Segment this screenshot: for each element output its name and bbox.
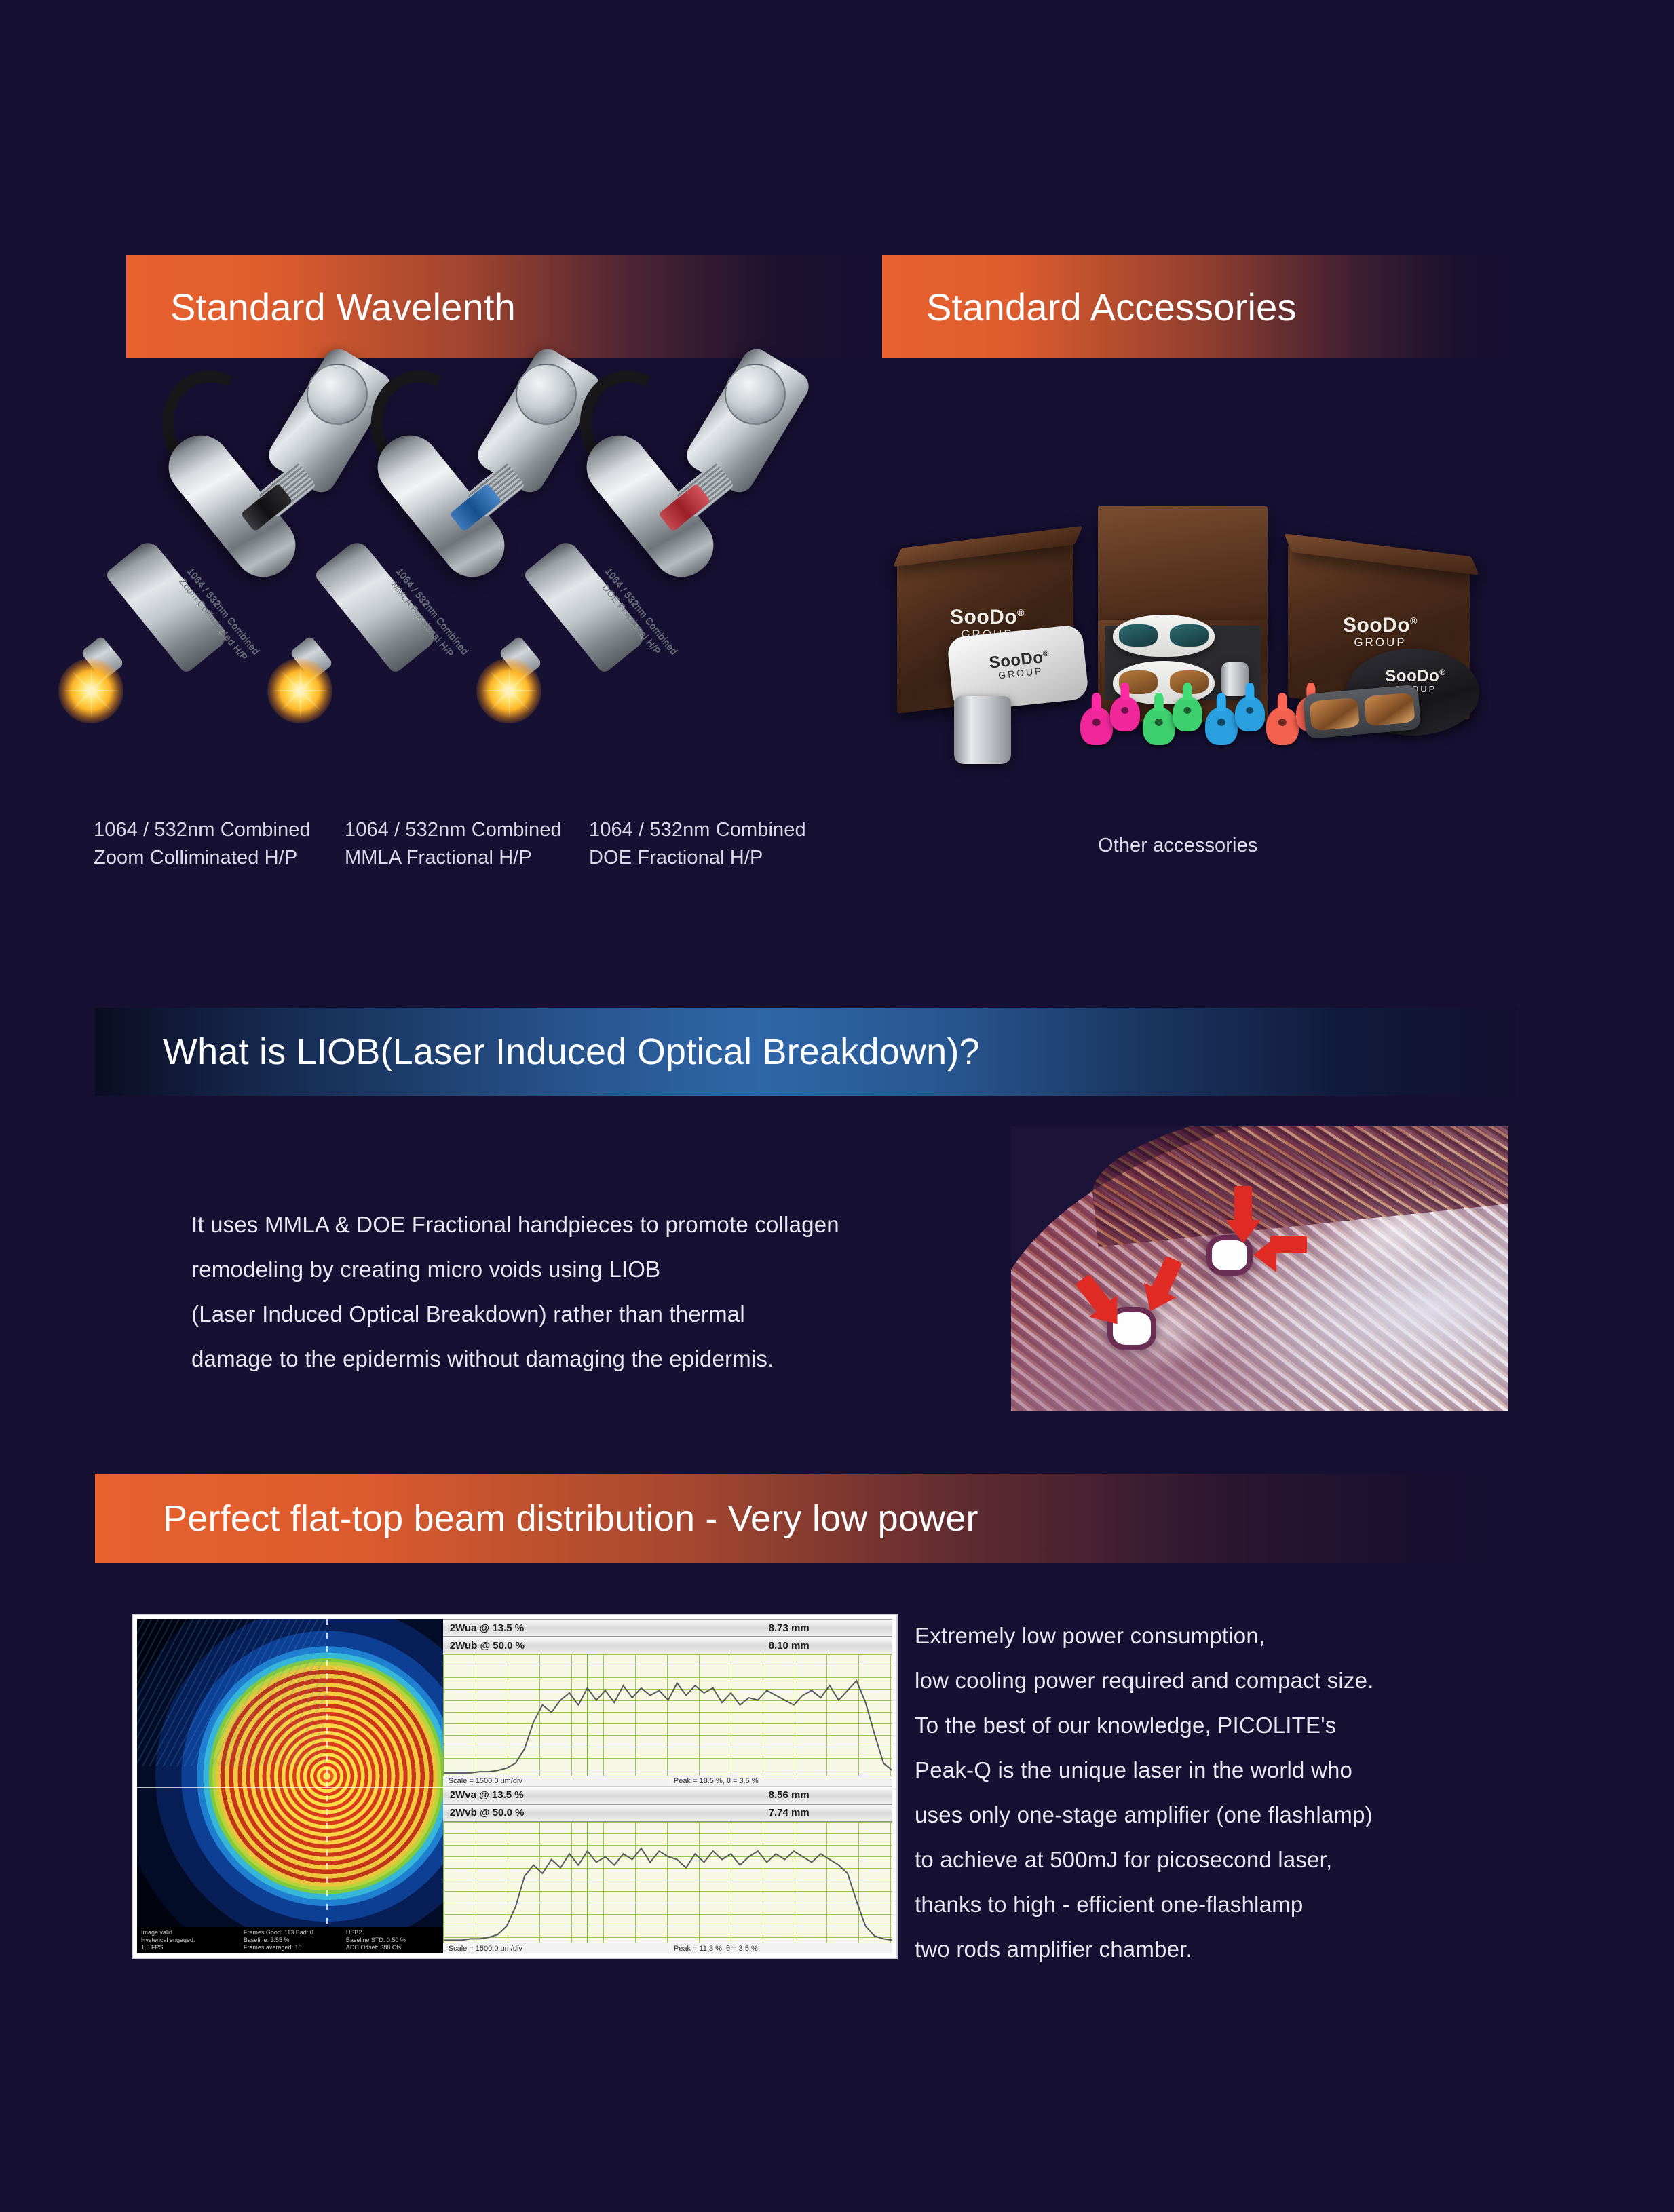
status-image-valid: Image valid — [141, 1929, 234, 1937]
banner-liob: What is LIOB(Laser Induced Optical Break… — [95, 1008, 1517, 1096]
laser-spark-icon — [58, 658, 123, 723]
status-hysterical: Hysterical engaged. — [141, 1937, 234, 1944]
vertical-profile-plot — [443, 1822, 892, 1943]
brand-mark: SooDo® GROUP — [1314, 615, 1447, 648]
eye-shield-green — [1143, 707, 1175, 745]
readout-label: 2Wub @ 50.0 % — [443, 1637, 686, 1654]
status-baseline-std: Baseline STD: 0.50 % — [346, 1937, 439, 1944]
handpiece-cap — [725, 364, 786, 425]
accessories-caption: Other accessories — [1098, 832, 1257, 860]
banner-flattop: Perfect flat-top beam distribution - Ver… — [95, 1474, 1517, 1563]
meta-scale: Scale = 1500.0 um/div — [443, 1776, 668, 1786]
eye-shield-blue-2 — [1235, 696, 1265, 731]
banner-flattop-label: Perfect flat-top beam distribution - Ver… — [163, 1498, 978, 1540]
banner-liob-label: What is LIOB(Laser Induced Optical Break… — [163, 1031, 980, 1073]
readout-value: 8.73 mm — [685, 1620, 892, 1636]
accessories-photo: SooDo® GROUP SooDo® GROUP SooDo® GROUP S… — [882, 493, 1493, 778]
accessory-cylinder-small — [1221, 662, 1249, 696]
meta-scale: Scale = 1500.0 um/div — [443, 1943, 668, 1953]
eye-shield-red — [1266, 707, 1299, 745]
status-baseline: Baseline: 3.55 % — [244, 1937, 337, 1944]
eye-shield-blue — [1205, 707, 1238, 745]
status-fps: 1.5 FPS — [141, 1944, 234, 1951]
meta-row-middle: Scale = 1500.0 um/div Peak = 18.5 %, θ =… — [443, 1776, 892, 1787]
eye-shield-green-2 — [1173, 696, 1202, 731]
readout-value: 8.10 mm — [685, 1637, 892, 1654]
meta-row-bottom: Scale = 1500.0 um/div Peak = 11.3 %, θ =… — [443, 1943, 892, 1953]
crosshair-horizontal — [137, 1787, 443, 1788]
flattop-paragraph: Extremely low power consumption, low coo… — [915, 1614, 1525, 1972]
handpiece-caption-3: 1064 / 532nm Combined DOE Fractional H/P — [589, 816, 847, 872]
eye-shield-pink — [1080, 707, 1113, 745]
beam-profiler-screenshot: Image valid Hysterical engaged. 1.5 FPS … — [133, 1615, 896, 1958]
banner-standard-wavelength: Standard Wavelenth — [126, 255, 877, 358]
readout-value: 7.74 mm — [685, 1805, 892, 1821]
accessory-cylinder-large — [954, 696, 1011, 764]
banner-standard-accessories-label: Standard Accessories — [926, 285, 1297, 329]
meta-peak: Peak = 18.5 %, θ = 3.5 % — [668, 1776, 892, 1786]
laser-spark-icon — [476, 658, 541, 723]
vertical-profile-trace — [444, 1822, 892, 1943]
readout-row: 2Wvb @ 50.0 % 7.74 mm — [443, 1804, 892, 1822]
banner-standard-accessories: Standard Accessories — [882, 255, 1517, 358]
handpiece-cap — [307, 364, 368, 425]
safety-goggle-upper — [1113, 615, 1215, 657]
annotation-arrow-left — [1247, 1227, 1307, 1262]
beam-streak-artifacts — [137, 1619, 326, 1766]
handpiece-caption-2: 1064 / 532nm Combined MMLA Fractional H/… — [345, 816, 589, 872]
horizontal-profile-trace — [444, 1654, 892, 1776]
status-usb: USB2 — [346, 1929, 439, 1937]
readout-row: 2Wua @ 13.5 % 8.73 mm — [443, 1619, 892, 1637]
status-frames-averaged: Frames averaged: 10 — [244, 1944, 337, 1951]
readout-row: 2Wub @ 50.0 % 8.10 mm — [443, 1637, 892, 1654]
meta-peak: Peak = 11.3 %, θ = 3.5 % — [668, 1943, 892, 1953]
readout-row: 2Wva @ 13.5 % 8.56 mm — [443, 1787, 892, 1804]
liob-paragraph: It uses MMLA & DOE Fractional handpieces… — [191, 1202, 978, 1381]
readout-label: 2Wvb @ 50.0 % — [443, 1805, 686, 1821]
handpiece-caption-1: 1064 / 532nm Combined Zoom Colliminated … — [94, 816, 338, 872]
beam-profile-image: Image valid Hysterical engaged. 1.5 FPS … — [137, 1619, 443, 1953]
beam-status-bar: Image valid Hysterical engaged. 1.5 FPS … — [137, 1927, 443, 1953]
horizontal-profile-plot — [443, 1654, 892, 1776]
banner-standard-wavelength-label: Standard Wavelenth — [170, 285, 516, 329]
readout-label: 2Wva @ 13.5 % — [443, 1787, 686, 1804]
status-frames-good: Frames Good: 113 Bad: 0 — [244, 1929, 337, 1937]
eye-shield-pink-2 — [1110, 696, 1140, 731]
status-adc-offset: ADC Offset: 388 Cts — [346, 1944, 439, 1951]
crosshair-vertical — [326, 1619, 328, 1953]
handpiece-cap — [516, 364, 577, 425]
histology-image — [1011, 1126, 1508, 1411]
readout-label: 2Wua @ 13.5 % — [443, 1620, 686, 1636]
accessory-box-open-lid — [1098, 506, 1268, 627]
laser-spark-icon — [267, 658, 332, 723]
beam-profile-plots: 2Wua @ 13.5 % 8.73 mm 2Wub @ 50.0 % 8.10… — [443, 1619, 892, 1953]
readout-value: 8.56 mm — [685, 1787, 892, 1804]
